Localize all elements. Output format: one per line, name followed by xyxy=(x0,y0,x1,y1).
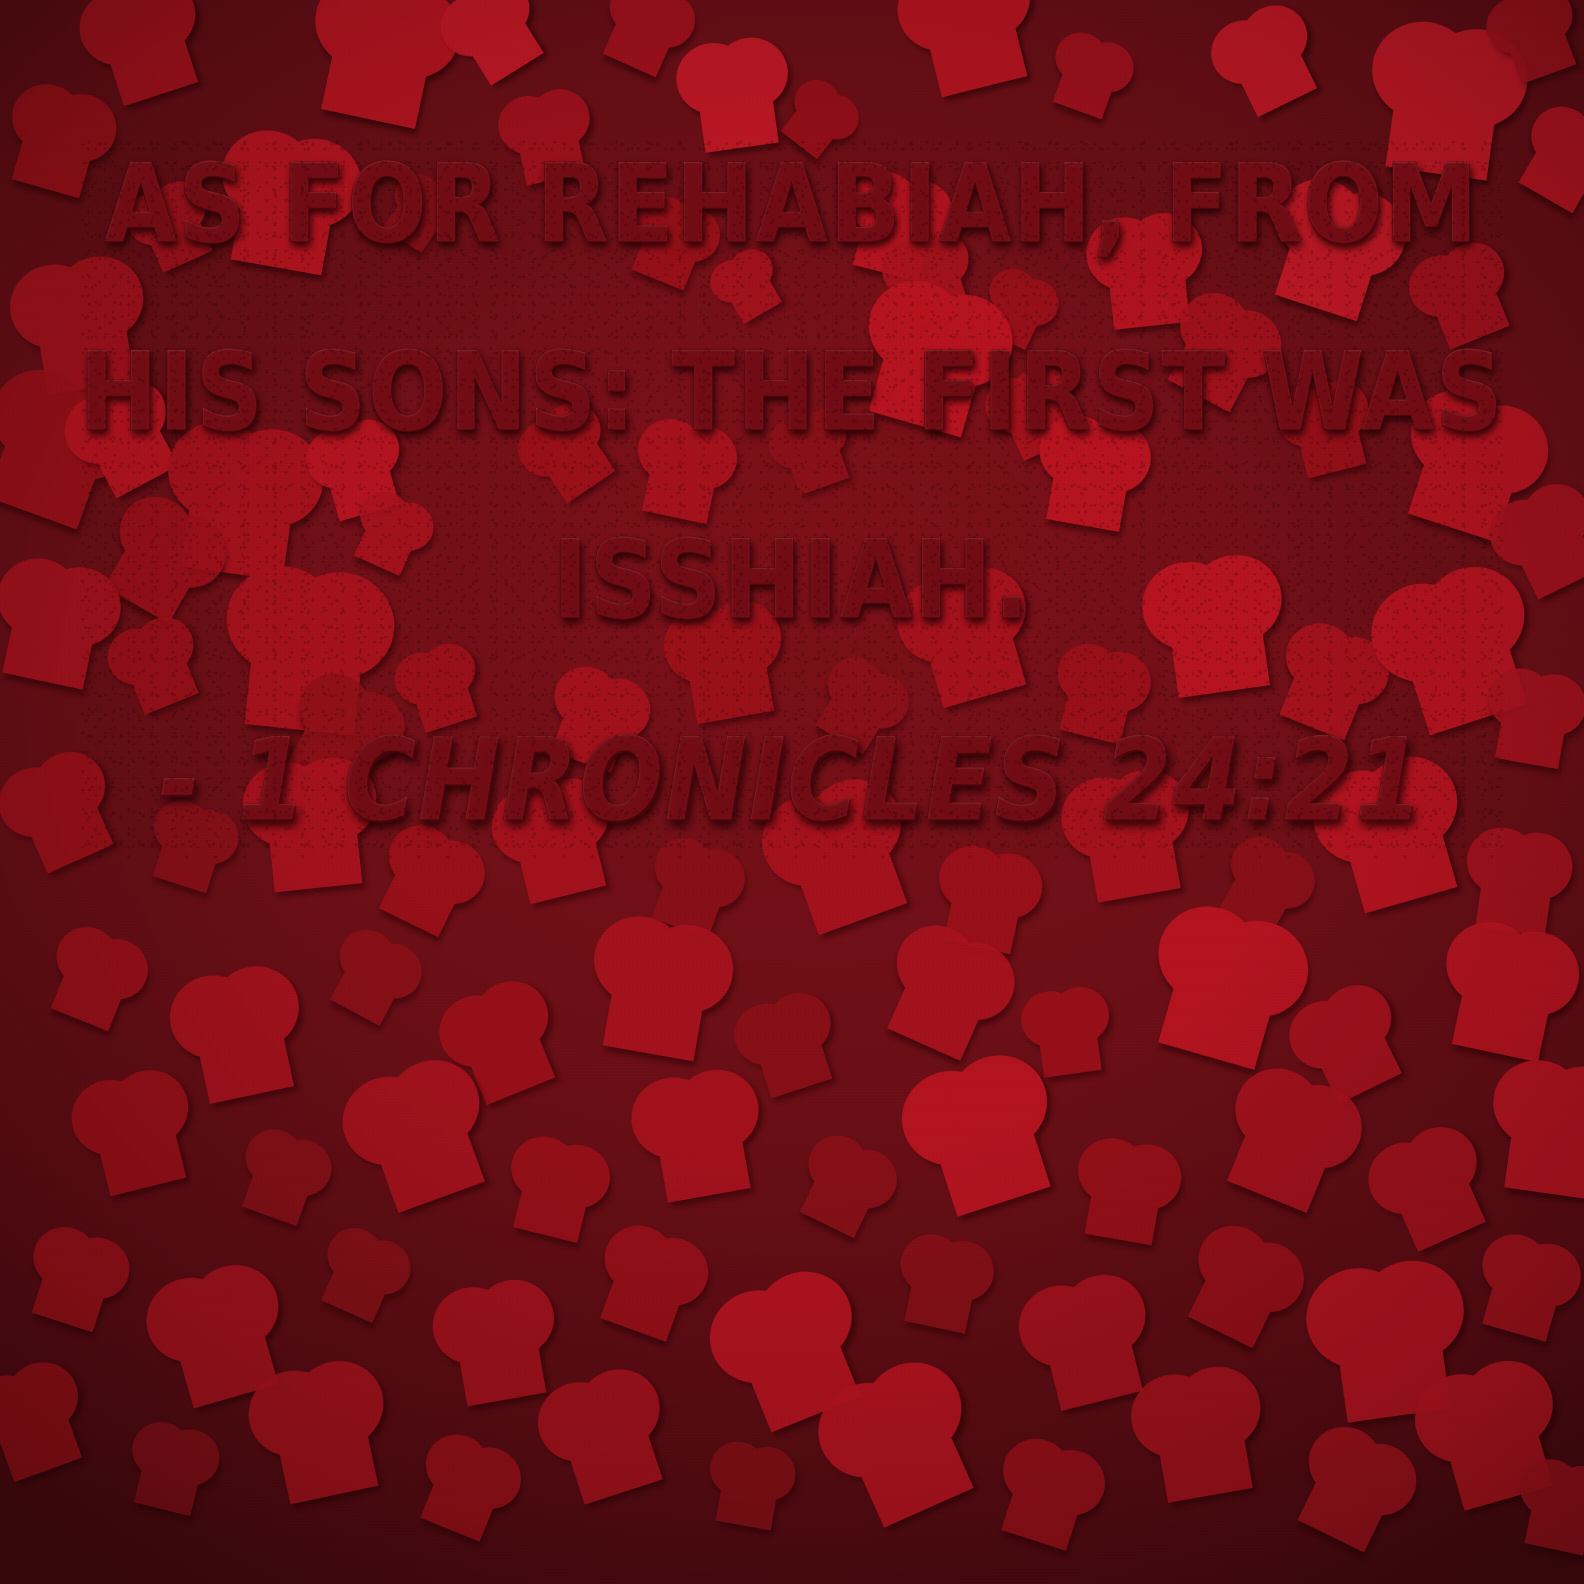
background-gradient xyxy=(0,0,1584,1584)
verse-image-canvas: AS FOR REHABIAH, FROM HIS SONS: THE FIRS… xyxy=(0,0,1584,1584)
